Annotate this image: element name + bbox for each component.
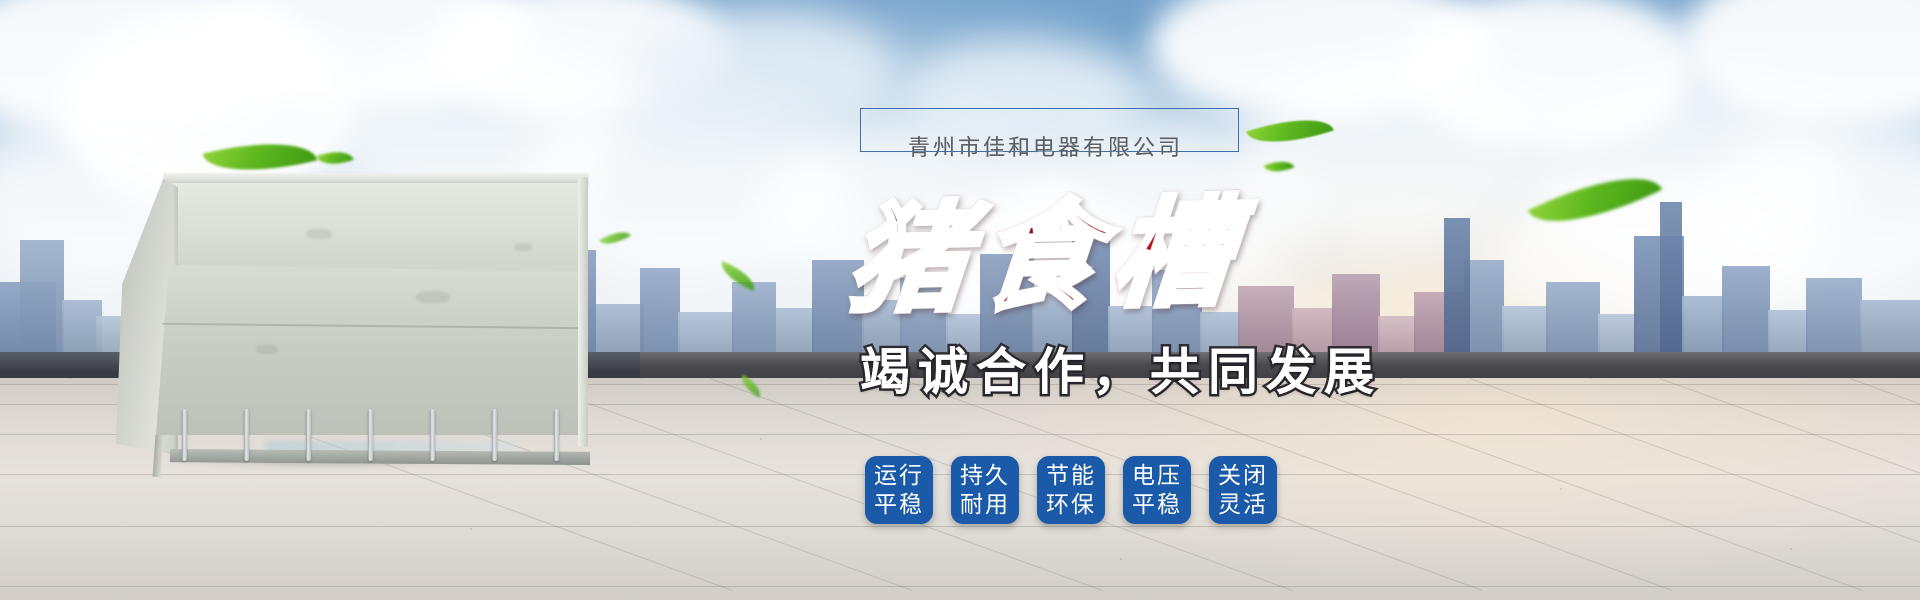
feature-badge-line2: 平稳 bbox=[874, 490, 924, 519]
company-name: 青州市佳和电器有限公司 bbox=[908, 130, 1183, 162]
feature-badge[interactable]: 电压 平稳 bbox=[1123, 456, 1191, 524]
product-image-pig-feeder bbox=[78, 165, 598, 465]
decorative-frame-right bbox=[1238, 108, 1239, 152]
promo-banner: 青州市佳和电器有限公司 猪食槽 猪食槽 竭诚合作，共同发展 竭诚合作，共同发展 … bbox=[0, 0, 1920, 600]
feature-badge[interactable]: 持久 耐用 bbox=[951, 456, 1019, 524]
feature-badge[interactable]: 关闭 灵活 bbox=[1209, 456, 1277, 524]
feature-badge-line2: 环保 bbox=[1046, 490, 1096, 519]
feature-badge[interactable]: 运行 平稳 bbox=[865, 456, 933, 524]
feature-badge-list: 运行 平稳 持久 耐用 节能 环保 电压 平稳 关闭 灵活 bbox=[865, 456, 1277, 524]
feature-badge-line2: 平稳 bbox=[1132, 490, 1182, 519]
feature-badge-line2: 耐用 bbox=[960, 490, 1010, 519]
banner-copy-block: 青州市佳和电器有限公司 猪食槽 猪食槽 竭诚合作，共同发展 竭诚合作，共同发展 bbox=[860, 100, 1480, 162]
main-title: 猪食槽 bbox=[842, 156, 1253, 335]
decorative-frame-top bbox=[1060, 108, 1238, 109]
feature-badge-line2: 灵活 bbox=[1218, 490, 1268, 519]
feature-badge-line1: 持久 bbox=[960, 461, 1010, 490]
feature-badge[interactable]: 节能 环保 bbox=[1037, 456, 1105, 524]
subtitle: 竭诚合作，共同发展 bbox=[860, 332, 1382, 404]
feature-badge-line1: 电压 bbox=[1132, 461, 1182, 490]
company-name-row: 青州市佳和电器有限公司 bbox=[860, 100, 1480, 162]
feature-badge-line1: 运行 bbox=[874, 461, 924, 490]
feature-badge-line1: 关闭 bbox=[1218, 461, 1268, 490]
feature-badge-line1: 节能 bbox=[1046, 461, 1096, 490]
